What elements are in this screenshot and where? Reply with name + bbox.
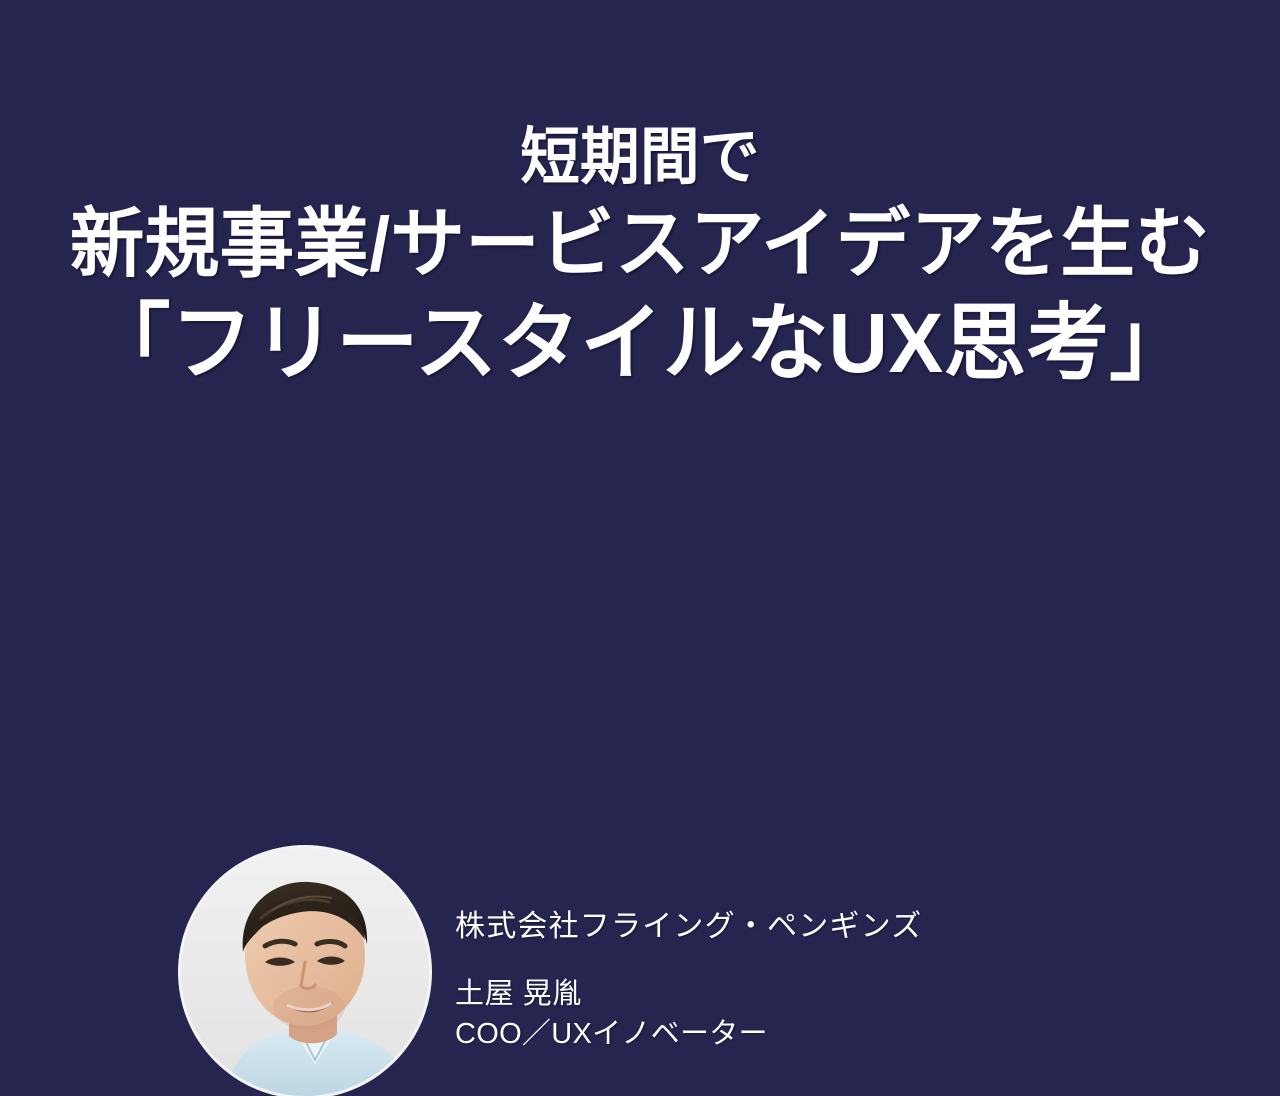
speaker-details: 株式会社フライング・ペンギンズ 土屋 晃胤 COO／UXイノベーター (455, 908, 922, 1054)
speaker-portrait-photo-icon (181, 848, 429, 1096)
speaker-block: 株式会社フライング・ペンギンズ 土屋 晃胤 COO／UXイノベーター (0, 420, 1280, 700)
slide-title: 短期間で 新規事業/サービスアイデアを生む 「フリースタイルなUX思考」 (0, 118, 1280, 394)
person-info: 土屋 晃胤 COO／UXイノベーター (455, 974, 922, 1054)
title-line-2: 新規事業/サービスアイデアを生む (13, 198, 1267, 292)
company-name: 株式会社フライング・ペンギンズ (455, 908, 922, 946)
presentation-title-slide: 短期間で 新規事業/サービスアイデアを生む 「フリースタイルなUX思考」 (0, 0, 1280, 720)
title-line-3: 「フリースタイルなUX思考」 (13, 292, 1267, 394)
person-name: 土屋 晃胤 (455, 974, 922, 1014)
avatar (181, 848, 429, 1096)
person-role: COO／UXイノベーター (455, 1014, 922, 1054)
title-line-1: 短期間で (26, 118, 1255, 198)
